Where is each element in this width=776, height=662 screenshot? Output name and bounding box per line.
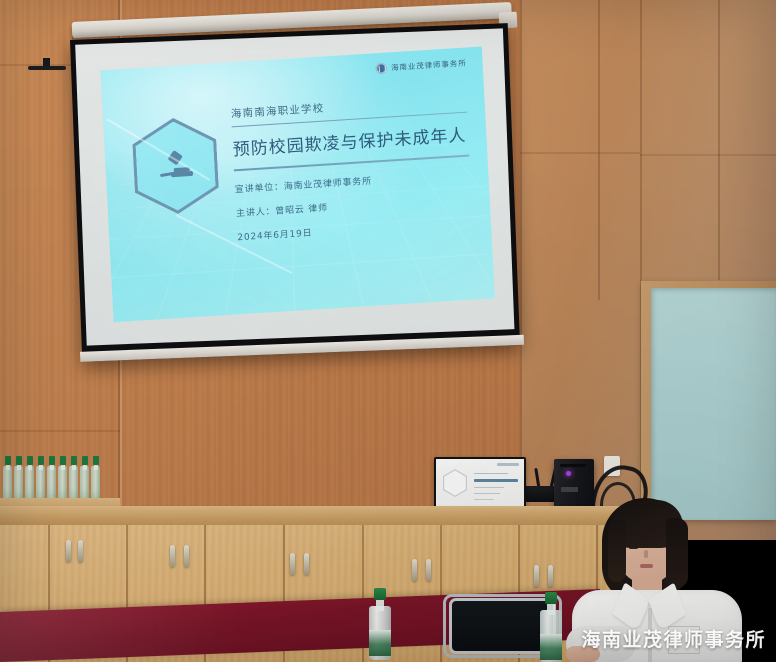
- left-wall: [0, 0, 72, 520]
- pc-brand-badge: [561, 487, 578, 492]
- monitor-stand-base: [28, 66, 66, 70]
- whiteboard-panel: [651, 288, 776, 520]
- projected-slide: 海南业茂律师事务所: [100, 47, 494, 323]
- power-led-icon: [566, 471, 571, 476]
- cabinet-handle[interactable]: [170, 545, 175, 567]
- slide-title: 预防校园欺凌与保护未成年人: [232, 121, 469, 161]
- hair-side: [608, 520, 626, 582]
- hair-side: [666, 518, 688, 588]
- wall-seam: [640, 154, 776, 156]
- mouth: [640, 564, 653, 568]
- firm-emblem-icon: [376, 63, 388, 75]
- slide-text-block: 海南南海职业学校 预防校园欺凌与保护未成年人 宣讲单位：海南业茂律师事务所 主讲…: [231, 92, 474, 243]
- slide-speaker-line: 主讲人：曾昭云 律师: [236, 191, 472, 219]
- wall-seam: [0, 430, 120, 432]
- cabinet-handle[interactable]: [412, 559, 417, 581]
- nose: [644, 550, 648, 558]
- monitor-screen: [436, 459, 524, 509]
- wall-seam: [598, 0, 600, 300]
- monitor-slide-logo: [497, 463, 519, 466]
- cabinet-handle[interactable]: [66, 540, 71, 562]
- cabinet-handle[interactable]: [548, 565, 553, 587]
- photo-scene: 海南业茂律师事务所: [0, 0, 776, 662]
- projector-screen-surface: 海南业茂律师事务所: [75, 28, 514, 345]
- cabinet-handle[interactable]: [534, 565, 539, 587]
- pc-drive-slot: [560, 464, 586, 467]
- wall-seam: [718, 0, 720, 280]
- cabinet-handle[interactable]: [290, 553, 295, 575]
- cabinet-handle[interactable]: [184, 545, 189, 567]
- watermark: 海南业茂律师事务所: [581, 625, 766, 652]
- gavel-hexagon-icon: [131, 115, 220, 216]
- water-bottle[interactable]: [367, 588, 393, 660]
- slide-org-line: 宣讲单位：海南业茂律师事务所: [235, 167, 471, 195]
- wall-seam: [520, 152, 640, 154]
- cabinet-handle[interactable]: [426, 559, 431, 581]
- cabinet-handle[interactable]: [304, 553, 309, 575]
- cabinet-handle[interactable]: [78, 540, 83, 562]
- projector-screen: 海南业茂律师事务所: [70, 23, 520, 362]
- whiteboard-frame: [641, 281, 776, 520]
